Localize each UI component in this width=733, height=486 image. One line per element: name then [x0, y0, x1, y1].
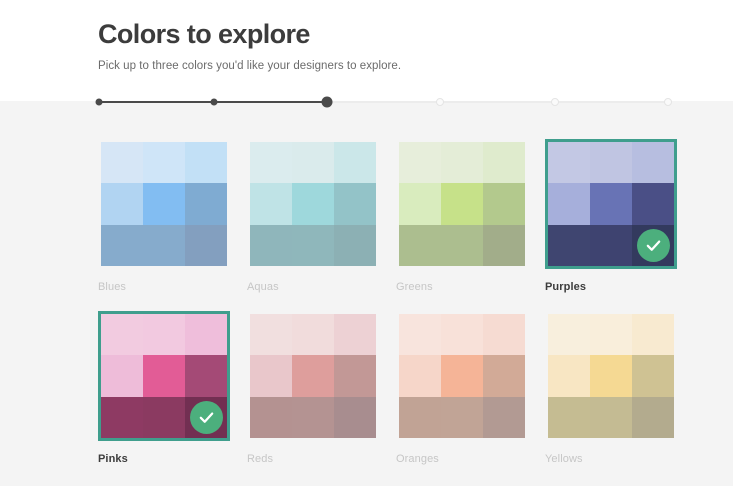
swatch-cell	[441, 183, 483, 224]
swatch-cell	[292, 142, 334, 183]
palette-label: Reds	[247, 453, 379, 465]
swatch-cell	[441, 397, 483, 438]
swatch-grid-blues[interactable]	[98, 139, 230, 269]
palette-label: Greens	[396, 281, 528, 293]
swatch-cell	[101, 183, 143, 224]
swatch-cell	[292, 225, 334, 266]
swatch-cell	[334, 355, 376, 396]
swatch-cell	[101, 397, 143, 438]
palette-label: Blues	[98, 281, 230, 293]
palette-card-greens[interactable]: Greens	[396, 139, 528, 293]
swatch-cell	[632, 355, 674, 396]
swatch-cell	[292, 183, 334, 224]
palette-label: Aquas	[247, 281, 379, 293]
swatch-cell	[250, 183, 292, 224]
swatch-grid-pinks[interactable]	[98, 311, 230, 441]
swatch-cell	[632, 397, 674, 438]
palette-card-yellows[interactable]: Yellows	[545, 311, 677, 465]
swatch-cell	[483, 355, 525, 396]
swatch-cell	[548, 225, 590, 266]
swatch-cell	[101, 225, 143, 266]
swatch-cell	[143, 183, 185, 224]
check-icon	[637, 229, 670, 262]
color-palette-grid: BluesAquasGreensPurplesPinksRedsOrangesY…	[98, 139, 678, 483]
swatch-grid-yellows[interactable]	[545, 311, 677, 441]
stepper-dot-6[interactable]	[664, 98, 672, 106]
swatch-cell	[143, 355, 185, 396]
page-title: Colors to explore	[98, 18, 733, 50]
swatch-grid-greens[interactable]	[396, 139, 528, 269]
swatch-grid-oranges[interactable]	[396, 311, 528, 441]
swatch-cell	[143, 142, 185, 183]
swatch-cell	[101, 355, 143, 396]
swatch-cell	[292, 314, 334, 355]
swatch-cell	[334, 225, 376, 266]
palette-card-reds[interactable]: Reds	[247, 311, 379, 465]
swatch-cell	[143, 397, 185, 438]
swatch-cell	[548, 142, 590, 183]
palette-card-pinks[interactable]: Pinks	[98, 311, 230, 465]
swatch-cell	[483, 314, 525, 355]
swatch-cell	[590, 314, 632, 355]
palette-label: Yellows	[545, 453, 677, 465]
palette-label: Oranges	[396, 453, 528, 465]
stepper-dot-1[interactable]	[96, 99, 103, 106]
stepper-dot-2[interactable]	[211, 99, 218, 106]
swatch-cell	[250, 314, 292, 355]
swatch-cell	[548, 397, 590, 438]
stepper-dot-4[interactable]	[436, 98, 444, 106]
swatch-cell	[632, 142, 674, 183]
swatch-cell	[632, 314, 674, 355]
swatch-cell	[590, 225, 632, 266]
swatch-cell	[399, 397, 441, 438]
swatch-cell	[185, 355, 227, 396]
swatch-cell	[590, 355, 632, 396]
page-header: Colors to explore Pick up to three color…	[0, 0, 733, 101]
page-subtitle: Pick up to three colors you'd like your …	[98, 60, 733, 72]
swatch-cell	[250, 397, 292, 438]
swatch-cell	[399, 142, 441, 183]
swatch-cell	[548, 314, 590, 355]
stepper-dot-5[interactable]	[551, 98, 559, 106]
progress-stepper	[0, 94, 733, 110]
swatch-cell	[185, 314, 227, 355]
swatch-cell	[399, 225, 441, 266]
swatch-cell	[185, 225, 227, 266]
swatch-cell	[548, 183, 590, 224]
palette-row: PinksRedsOrangesYellows	[98, 311, 678, 465]
palette-card-purples[interactable]: Purples	[545, 139, 677, 293]
swatch-cell	[334, 142, 376, 183]
swatch-cell	[483, 397, 525, 438]
swatch-cell	[143, 314, 185, 355]
swatch-cell	[185, 183, 227, 224]
swatch-cell	[250, 142, 292, 183]
check-icon	[190, 401, 223, 434]
palette-card-blues[interactable]: Blues	[98, 139, 230, 293]
swatch-cell	[143, 225, 185, 266]
swatch-grid-reds[interactable]	[247, 311, 379, 441]
swatch-cell	[441, 355, 483, 396]
palette-card-oranges[interactable]: Oranges	[396, 311, 528, 465]
swatch-cell	[101, 142, 143, 183]
swatch-cell	[483, 183, 525, 224]
swatch-cell	[334, 314, 376, 355]
swatch-cell	[441, 314, 483, 355]
swatch-cell	[399, 314, 441, 355]
swatch-cell	[292, 355, 334, 396]
stepper-dot-3[interactable]	[322, 97, 333, 108]
swatch-cell	[399, 355, 441, 396]
swatch-cell	[399, 183, 441, 224]
swatch-cell	[590, 397, 632, 438]
swatch-cell	[101, 314, 143, 355]
swatch-cell	[483, 225, 525, 266]
swatch-cell	[250, 355, 292, 396]
swatch-cell	[483, 142, 525, 183]
swatch-grid-aquas[interactable]	[247, 139, 379, 269]
swatch-cell	[250, 225, 292, 266]
swatch-grid-purples[interactable]	[545, 139, 677, 269]
swatch-cell	[334, 397, 376, 438]
swatch-cell	[590, 142, 632, 183]
palette-card-aquas[interactable]: Aquas	[247, 139, 379, 293]
swatch-cell	[185, 142, 227, 183]
swatch-cell	[334, 183, 376, 224]
swatch-cell	[590, 183, 632, 224]
swatch-cell	[292, 397, 334, 438]
palette-row: BluesAquasGreensPurples	[98, 139, 678, 293]
swatch-cell	[548, 355, 590, 396]
swatch-cell	[441, 142, 483, 183]
palette-label: Purples	[545, 281, 677, 293]
swatch-cell	[441, 225, 483, 266]
palette-label: Pinks	[98, 453, 230, 465]
swatch-cell	[632, 183, 674, 224]
